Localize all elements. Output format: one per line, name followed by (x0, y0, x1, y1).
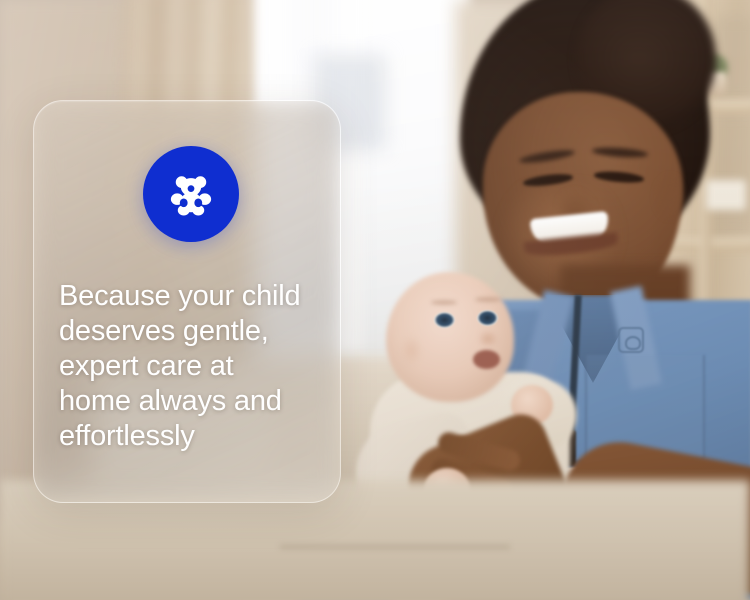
headline-text: Because your child deserves gentle, expe… (59, 279, 315, 454)
nurse-ear (655, 175, 685, 219)
shelf-opening (712, 113, 750, 237)
baby-eyebrow (431, 300, 457, 305)
baby-eye (434, 312, 455, 328)
teddy-bear-icon (168, 171, 214, 217)
glass-message-card: Because your child deserves gentle, expe… (33, 100, 341, 503)
card-content: Because your child deserves gentle, expe… (34, 101, 340, 502)
teddy-bear-badge (143, 146, 239, 242)
hero-banner: Because your child deserves gentle, expe… (0, 0, 750, 600)
baby-eyebrow (475, 297, 501, 302)
baby-eye (477, 310, 498, 326)
baby-ear (400, 336, 422, 366)
sofa-seam (280, 545, 510, 549)
baby-nose (478, 330, 498, 345)
scrub-logo-icon (618, 327, 644, 353)
baby-mouth (473, 350, 500, 369)
shelf-object (706, 180, 746, 210)
